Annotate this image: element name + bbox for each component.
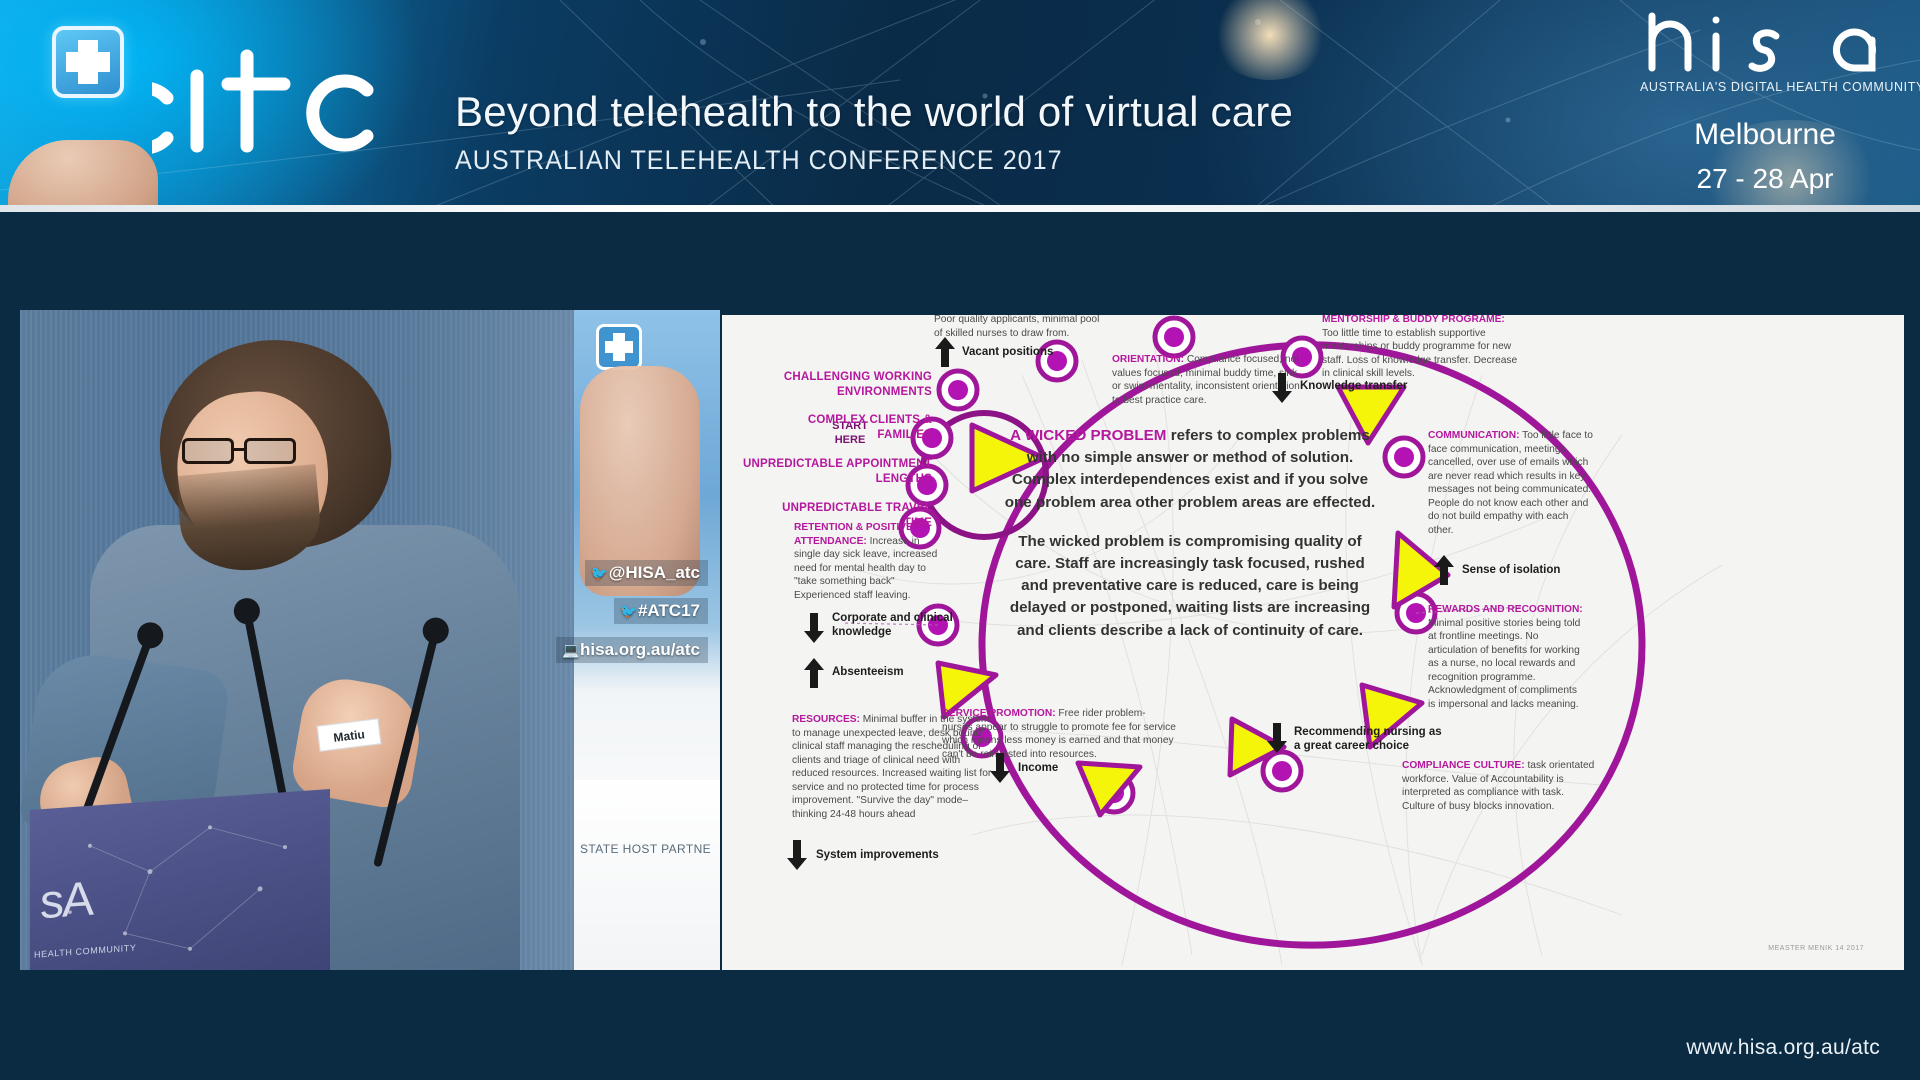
twitter-icon: 🐦 xyxy=(591,565,609,582)
hisa-tagline: AUSTRALIA'S DIGITAL HEALTH COMMUNITY xyxy=(1640,80,1890,94)
absenteeism-arrow-icon xyxy=(804,658,824,688)
arrow-label-system-improvements: System improvements xyxy=(816,848,996,862)
wicked-problem-diagram: STARTHERE CHALLENGING WORKING ENVIRONMEN… xyxy=(722,315,1904,970)
sense-of-isolation-arrow-icon xyxy=(1434,555,1454,585)
corporate-clinical-knowledge-arrow-icon xyxy=(804,613,824,643)
block-compliance-culture: COMPLIANCE CULTURE: task orientated work… xyxy=(1402,759,1598,813)
center-wicked-problem-text: A WICKED PROBLEM refers to complex probl… xyxy=(1004,425,1376,642)
income-arrow-icon xyxy=(990,753,1010,783)
block-rewards-and-recognition: REWARDS AND RECOGNITION: Minimal positiv… xyxy=(1428,603,1586,712)
wicked-problem-keyword: A WICKED PROBLEM xyxy=(1010,427,1166,444)
category-challenging-working-environments: CHALLENGING WORKING ENVIRONMENTS xyxy=(752,370,932,400)
web-icon: 💻 xyxy=(562,642,580,659)
recommending-nursing-arrow-icon xyxy=(1267,723,1287,753)
twitter-icon: 🐦 xyxy=(620,603,638,620)
wicked-problem-paragraph-2: The wicked problem is compromising quali… xyxy=(1004,531,1376,642)
arrow-label-vacant-positions: Vacant positions xyxy=(962,345,1102,359)
conference-header-banner: Beyond telehealth to the world of virtua… xyxy=(0,0,1920,212)
footer-url: www.hisa.org.au/atc xyxy=(1686,1036,1880,1060)
event-city: Melbourne xyxy=(1640,118,1890,152)
block-resources: RESOURCES: Minimal buffer in the system … xyxy=(792,713,992,822)
social-hashtag: 🐦#ATC17 xyxy=(614,598,708,624)
block-retention-positive-attendance: RETENTION & POSITIVE ATTENDANCE: Increas… xyxy=(794,521,944,602)
partner-panel: STATE HOST PARTNE xyxy=(574,780,720,970)
arrow-label-knowledge-transfer: Knowledge transfer xyxy=(1300,379,1460,393)
hisa-logo xyxy=(1640,10,1890,76)
diagram-credit: MEASTER MENIK 14 2017 xyxy=(1768,945,1864,952)
arrow-label-sense-of-isolation: Sense of isolation xyxy=(1462,563,1612,577)
category-unpredictable-appointment-lengths: UNPREDICTABLE APPOINTMENT LENGTHS xyxy=(737,457,932,487)
arrow-label-income: Income xyxy=(1018,761,1128,775)
page-subtitle: AUSTRALIAN TELEHEALTH CONFERENCE 2017 xyxy=(455,145,1063,176)
slide-screenshot: Beyond telehealth to the world of virtua… xyxy=(0,0,1920,1080)
arrow-label-recommending-nursing: Recommending nursing as a great career c… xyxy=(1294,725,1444,754)
lectern: sA HEALTH COMMUNITY xyxy=(30,789,330,970)
header-divider xyxy=(0,205,1920,212)
social-handle-twitter: 🐦@HISA_atc xyxy=(585,560,708,586)
block-communication: COMMUNICATION: Too little face to face c… xyxy=(1428,429,1594,538)
arrow-label-corporate-clinical-knowledge: Corporate and clinical knowledge xyxy=(832,611,992,640)
arrow-label-absenteeism: Absenteeism xyxy=(832,665,972,679)
speaker-video-panel: 🐦@HISA_atc 🐦#ATC17 💻hisa.org.au/atc STAT… xyxy=(20,310,720,970)
page-title: Beyond telehealth to the world of virtua… xyxy=(455,88,1293,136)
system-improvements-arrow-icon xyxy=(787,840,807,870)
medical-cross-icon-screen xyxy=(596,324,642,370)
medical-cross-icon xyxy=(52,26,124,98)
knowledge-transfer-arrow-icon xyxy=(1272,373,1292,403)
atc-logo xyxy=(152,38,452,168)
wicked-problem-paragraph-1: A WICKED PROBLEM refers to complex probl… xyxy=(1004,425,1376,514)
lectern-logo: sA xyxy=(40,872,92,931)
category-complex-clients-families: COMPLEX CLIENTS & FAMILIES xyxy=(752,413,932,443)
event-dates: 27 - 28 Apr xyxy=(1640,163,1890,195)
partner-text: STATE HOST PARTNE xyxy=(580,842,711,856)
block-mentorship-buddy-programme: MENTORSHIP & BUDDY PROGRAME: Too little … xyxy=(1322,315,1522,381)
vacant-positions-arrow-icon xyxy=(935,337,955,367)
finger-photo-decoration xyxy=(46,86,98,212)
social-website: 💻hisa.org.au/atc xyxy=(556,637,708,663)
block-vacant-positions: Poor quality applicants, minimal pool of… xyxy=(934,315,1104,340)
speaker-figure: Matiu sA HEALTH COMMUNITY xyxy=(30,330,550,970)
speaker-glasses xyxy=(182,438,314,464)
